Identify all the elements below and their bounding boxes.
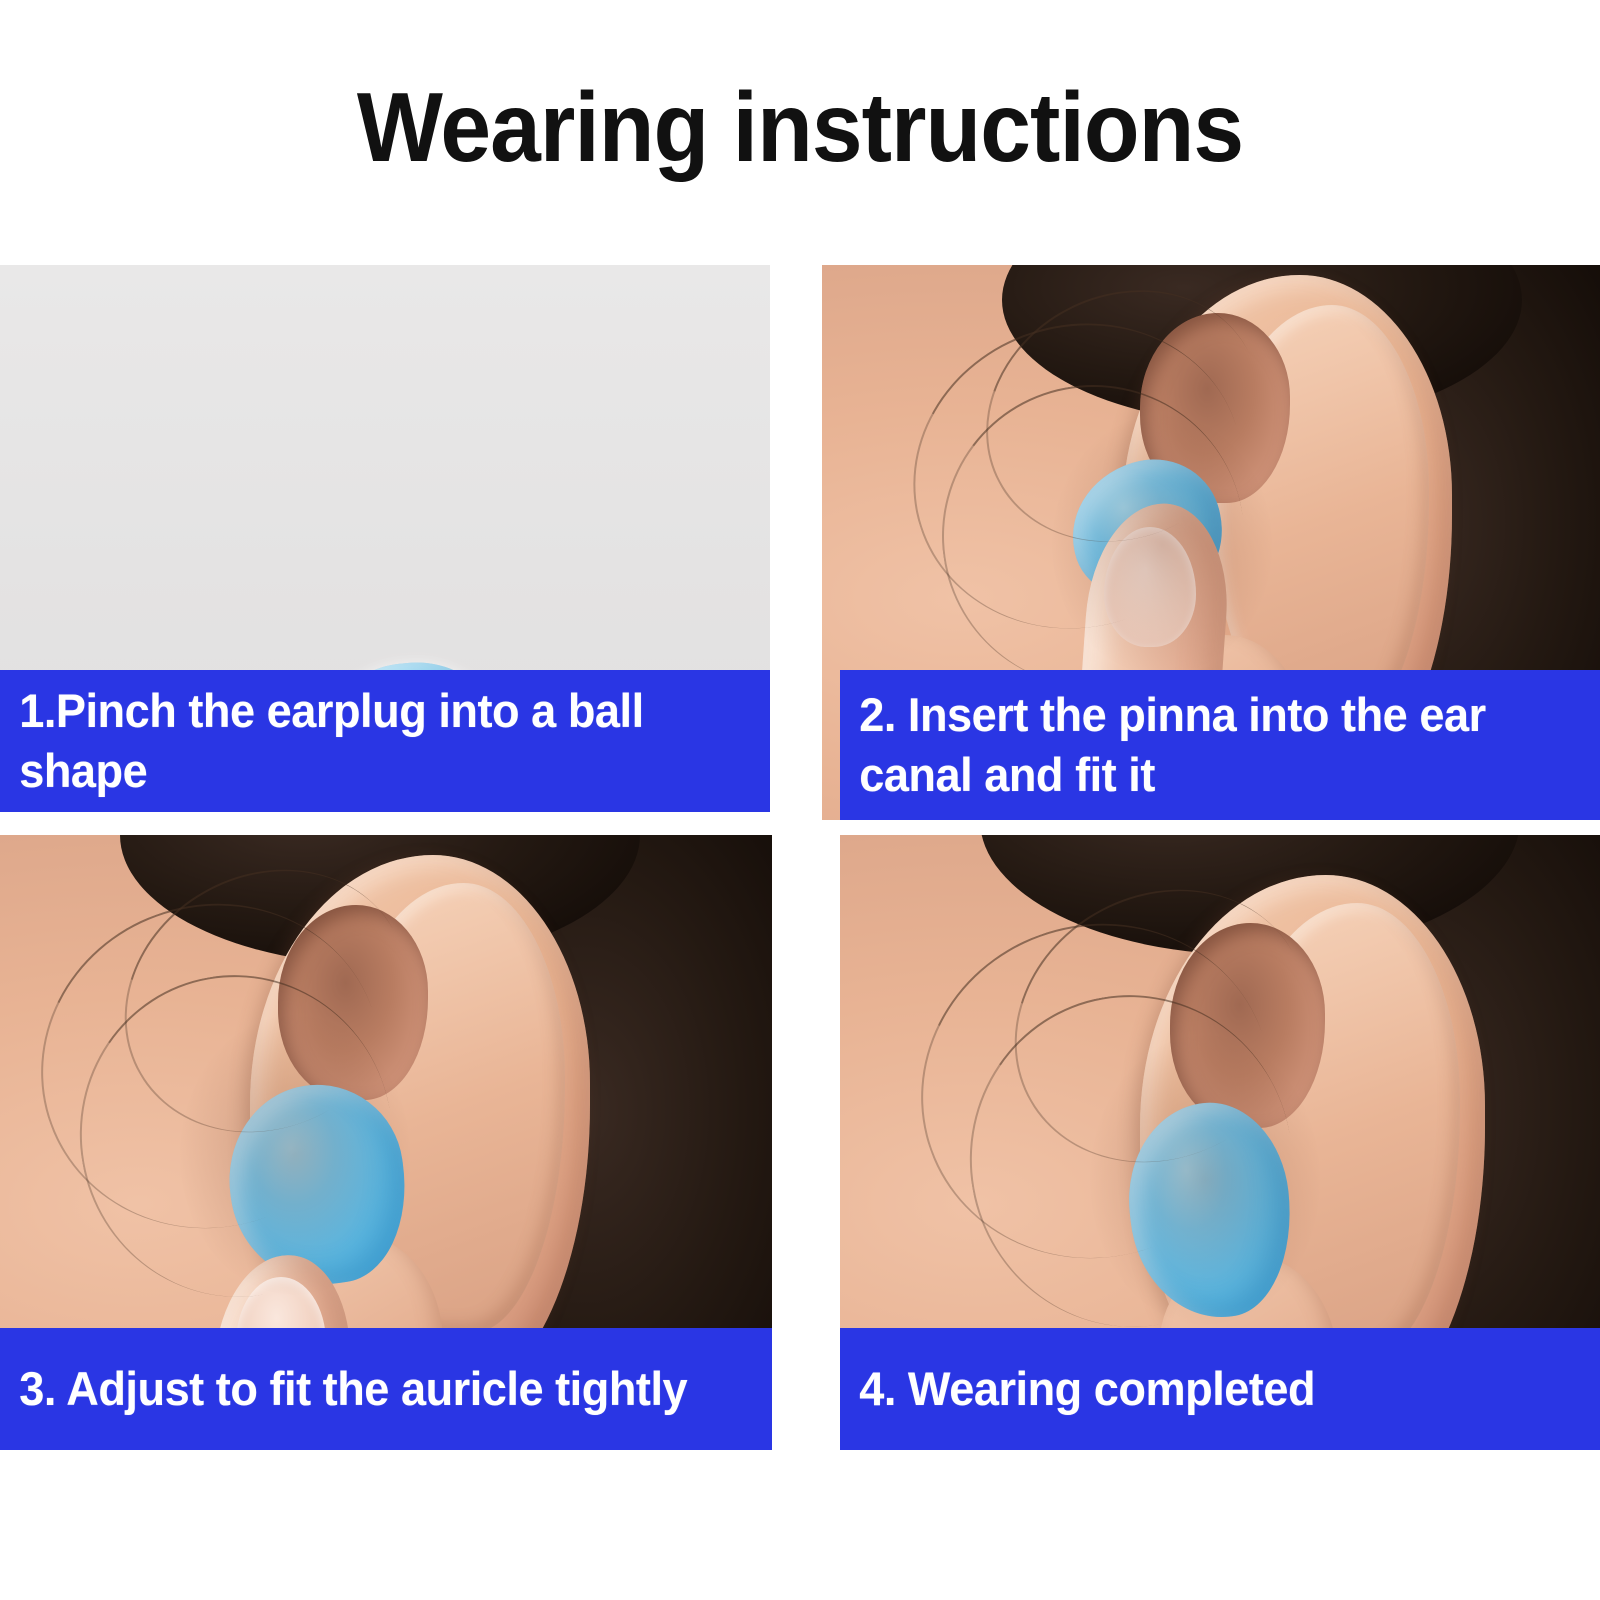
step-2-caption-bar: 2. Insert the pinna into the ear canal a…	[840, 670, 1600, 820]
step-panel-2: 2. Insert the pinna into the ear canal a…	[822, 265, 1600, 820]
step-3-caption-text: 3. Adjust to fit the auricle tightly	[0, 1359, 687, 1419]
step-4-caption-text: 4. Wearing completed	[840, 1359, 1315, 1419]
ear-shadow	[1090, 1035, 1320, 1325]
step-4-caption-bar: 4. Wearing completed	[840, 1328, 1600, 1450]
step-1-caption-text: 1.Pinch the earplug into a ball shape	[0, 681, 739, 801]
step-panel-3: 3. Adjust to fit the auricle tightly	[0, 835, 772, 1450]
step-1-caption-bar: 1.Pinch the earplug into a ball shape	[0, 670, 770, 812]
step-panel-1: 1.Pinch the earplug into a ball shape	[0, 265, 770, 812]
step-2-caption-text: 2. Insert the pinna into the ear canal a…	[840, 685, 1570, 805]
page-title: Wearing instructions	[56, 78, 1544, 176]
ear-shadow	[180, 1015, 410, 1295]
step-panel-4: 4. Wearing completed	[840, 835, 1600, 1450]
ear-shadow	[1052, 415, 1272, 675]
step-3-caption-bar: 3. Adjust to fit the auricle tightly	[0, 1328, 772, 1450]
